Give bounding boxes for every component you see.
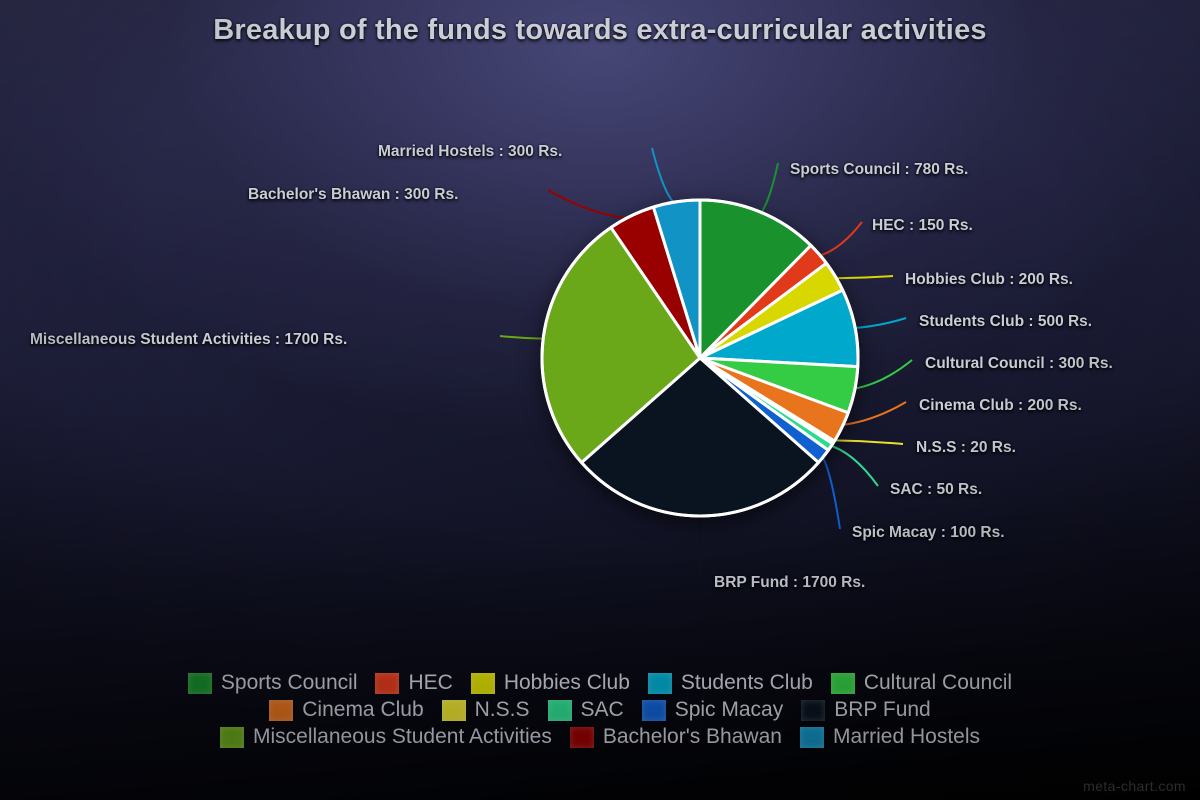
legend-label-spic-macay: Spic Macay — [675, 699, 784, 721]
legend-swatch-brp-fund — [801, 700, 825, 721]
legend-label-n-s-s: N.S.S — [475, 699, 530, 721]
legend-label-hobbies-club: Hobbies Club — [504, 672, 630, 694]
legend-item-sports-council[interactable]: Sports Council — [188, 672, 358, 694]
legend-row-2: Cinema ClubN.S.SSACSpic MacayBRP Fund — [260, 699, 939, 721]
legend-swatch-miscellaneous-student-activities — [220, 727, 244, 748]
legend-swatch-married-hostels — [800, 727, 824, 748]
legend-swatch-sports-council — [188, 673, 212, 694]
legend-swatch-hobbies-club — [471, 673, 495, 694]
legend-item-students-club[interactable]: Students Club — [648, 672, 813, 694]
callout-label-cinema-club: Cinema Club : 200 Rs. — [919, 397, 1082, 415]
legend-swatch-n-s-s — [442, 700, 466, 721]
legend-item-brp-fund[interactable]: BRP Fund — [801, 699, 931, 721]
callout-label-sports-council: Sports Council : 780 Rs. — [790, 161, 968, 179]
legend-item-cinema-club[interactable]: Cinema Club — [269, 699, 423, 721]
legend-item-cultural-council[interactable]: Cultural Council — [831, 672, 1012, 694]
callout-label-hec: HEC : 150 Rs. — [872, 217, 973, 235]
chart-canvas: Breakup of the funds towards extra-curri… — [0, 0, 1200, 800]
callout-label-misc-activities: Miscellaneous Student Activities : 1700 … — [30, 331, 347, 349]
pie-svg — [538, 196, 862, 520]
legend-item-hobbies-club[interactable]: Hobbies Club — [471, 672, 630, 694]
legend-swatch-students-club — [648, 673, 672, 694]
legend-item-miscellaneous-student-activities[interactable]: Miscellaneous Student Activities — [220, 726, 552, 748]
legend-swatch-spic-macay — [642, 700, 666, 721]
pie-chart — [538, 196, 862, 520]
callout-label-nss: N.S.S : 20 Rs. — [916, 439, 1016, 457]
callout-label-hobbies-club: Hobbies Club : 200 Rs. — [905, 271, 1073, 289]
legend-swatch-sac — [548, 700, 572, 721]
legend-label-miscellaneous-student-activities: Miscellaneous Student Activities — [253, 726, 552, 748]
legend-item-hec[interactable]: HEC — [375, 672, 452, 694]
legend-label-bachelor-s-bhawan: Bachelor's Bhawan — [603, 726, 782, 748]
legend-row-3: Miscellaneous Student ActivitiesBachelor… — [211, 726, 989, 748]
legend-item-married-hostels[interactable]: Married Hostels — [800, 726, 980, 748]
legend-label-cinema-club: Cinema Club — [302, 699, 423, 721]
callout-label-spic-macay: Spic Macay : 100 Rs. — [852, 524, 1005, 542]
callout-label-brp-fund: BRP Fund : 1700 Rs. — [714, 574, 865, 592]
legend-swatch-cultural-council — [831, 673, 855, 694]
callout-label-bachelors-bhawan: Bachelor's Bhawan : 300 Rs. — [248, 186, 458, 204]
legend-label-sac: SAC — [581, 699, 624, 721]
callout-label-sac: SAC : 50 Rs. — [890, 481, 982, 499]
legend-label-students-club: Students Club — [681, 672, 813, 694]
callout-label-students-club: Students Club : 500 Rs. — [919, 313, 1092, 331]
legend-swatch-hec — [375, 673, 399, 694]
legend-label-cultural-council: Cultural Council — [864, 672, 1012, 694]
legend-swatch-bachelor-s-bhawan — [570, 727, 594, 748]
legend-label-sports-council: Sports Council — [221, 672, 358, 694]
legend-swatch-cinema-club — [269, 700, 293, 721]
legend-label-married-hostels: Married Hostels — [833, 726, 980, 748]
legend-label-brp-fund: BRP Fund — [834, 699, 931, 721]
legend-row-1: Sports CouncilHECHobbies ClubStudents Cl… — [179, 672, 1021, 694]
legend-item-spic-macay[interactable]: Spic Macay — [642, 699, 784, 721]
callout-label-married-hostels: Married Hostels : 300 Rs. — [378, 143, 562, 161]
legend-item-bachelor-s-bhawan[interactable]: Bachelor's Bhawan — [570, 726, 782, 748]
callout-label-cultural-council: Cultural Council : 300 Rs. — [925, 355, 1113, 373]
watermark: meta-chart.com — [1083, 778, 1186, 794]
legend-item-n-s-s[interactable]: N.S.S — [442, 699, 530, 721]
chart-legend: Sports CouncilHECHobbies ClubStudents Cl… — [0, 672, 1200, 748]
legend-item-sac[interactable]: SAC — [548, 699, 624, 721]
legend-label-hec: HEC — [408, 672, 452, 694]
